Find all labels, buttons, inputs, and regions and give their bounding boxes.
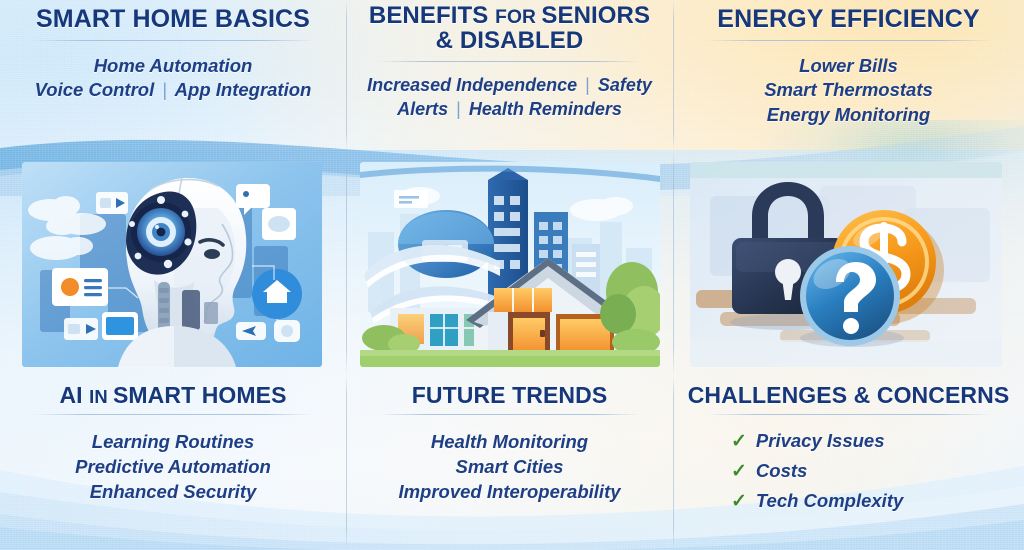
check-icon: ✓ — [731, 432, 747, 451]
line-item: Enhanced Security — [14, 480, 332, 505]
line-item: Learning Routines — [14, 430, 332, 455]
illustration-slot-left — [0, 150, 346, 375]
panel-heading-ai-in-smart-homes: AI IN SMART HOMES — [14, 383, 332, 407]
column-divider — [673, 0, 674, 150]
check-icon: ✓ — [731, 462, 747, 481]
column-divider — [673, 375, 674, 550]
challenges-checklist: ✓ Privacy Issues ✓ Costs ✓ Tech Complexi… — [687, 430, 1010, 512]
list-item-label: Privacy Issues — [756, 430, 885, 452]
line-item: Increased Independence — [367, 75, 577, 95]
heading-part-small: IN — [89, 386, 113, 407]
heading-divider — [378, 414, 641, 415]
panel-lines-smart-home-basics: Home Automation Voice Control | App Inte… — [14, 54, 332, 104]
panel-lines-ai: Learning Routines Predictive Automation … — [14, 430, 332, 504]
heading-part: BENEFITS — [369, 2, 495, 29]
panel-energy-efficiency: ENERGY EFFICIENCY Lower Bills Smart Ther… — [673, 0, 1024, 150]
separator: | — [159, 79, 170, 100]
heading-part: AI — [59, 382, 89, 408]
panel-heading-energy-efficiency: ENERGY EFFICIENCY — [687, 6, 1010, 33]
heading-part: SMART HOMES — [113, 382, 287, 408]
panel-heading-challenges-concerns: CHALLENGES & CONCERNS — [687, 383, 1010, 407]
panel-lines-benefits: Increased Independence | Safety Alerts |… — [360, 73, 659, 121]
line-item: Smart Thermostats — [687, 78, 1010, 103]
heading-divider — [706, 40, 990, 41]
line-item: Voice Control — [35, 79, 155, 100]
line-item: Improved Interoperability — [360, 480, 659, 505]
line-item: Home Automation — [94, 55, 253, 76]
illustration-slot-center — [346, 150, 673, 375]
check-icon: ✓ — [731, 492, 747, 511]
heading-line-2: & DISABLED — [360, 28, 659, 53]
panel-benefits-seniors-disabled: BENEFITS FOR SENIORS & DISABLED Increase… — [346, 0, 673, 150]
heading-divider — [706, 414, 990, 415]
column-divider — [346, 0, 347, 150]
list-item: ✓ Costs — [731, 460, 1010, 482]
line-item: Safety — [598, 75, 652, 95]
heading-part: SENIORS — [541, 2, 650, 29]
panel-lines-energy: Lower Bills Smart Thermostats Energy Mon… — [687, 54, 1010, 128]
heading-part-small: FOR — [495, 7, 541, 28]
separator: | — [453, 99, 464, 119]
column-divider — [346, 375, 347, 550]
heading-divider — [33, 40, 313, 41]
column-divider — [346, 150, 347, 375]
heading-divider — [378, 61, 641, 62]
list-item: ✓ Tech Complexity — [731, 490, 1010, 512]
line-item: Predictive Automation — [14, 455, 332, 480]
line-item: Energy Monitoring — [687, 103, 1010, 128]
line-item: Alerts — [397, 99, 448, 119]
line-item: Health Monitoring — [360, 430, 659, 455]
line-item: App Integration — [175, 79, 312, 100]
panel-heading-future-trends: FUTURE TRENDS — [360, 383, 659, 407]
illustration-slot-right — [673, 150, 1024, 375]
panel-heading-smart-home-basics: SMART HOME BASICS — [14, 6, 332, 33]
panel-lines-future-trends: Health Monitoring Smart Cities Improved … — [360, 430, 659, 504]
panel-challenges-concerns: CHALLENGES & CONCERNS ✓ Privacy Issues ✓… — [673, 375, 1024, 550]
list-item-label: Costs — [756, 460, 807, 482]
separator: | — [582, 75, 593, 95]
panel-heading-benefits-seniors-disabled: BENEFITS FOR SENIORS & DISABLED — [360, 3, 659, 54]
line-item: Lower Bills — [687, 54, 1010, 79]
list-item: ✓ Privacy Issues — [731, 430, 1010, 452]
line-item: Smart Cities — [360, 455, 659, 480]
column-divider — [673, 150, 674, 375]
line-item: Health Reminders — [469, 99, 622, 119]
list-item-label: Tech Complexity — [756, 490, 903, 512]
panel-smart-home-basics: SMART HOME BASICS Home Automation Voice … — [0, 0, 346, 150]
heading-divider — [33, 414, 313, 415]
infographic-canvas: SMART HOME BASICS Home Automation Voice … — [0, 0, 1024, 550]
panel-ai-in-smart-homes: AI IN SMART HOMES Learning Routines Pred… — [0, 375, 346, 550]
panel-future-trends: FUTURE TRENDS Health Monitoring Smart Ci… — [346, 375, 673, 550]
